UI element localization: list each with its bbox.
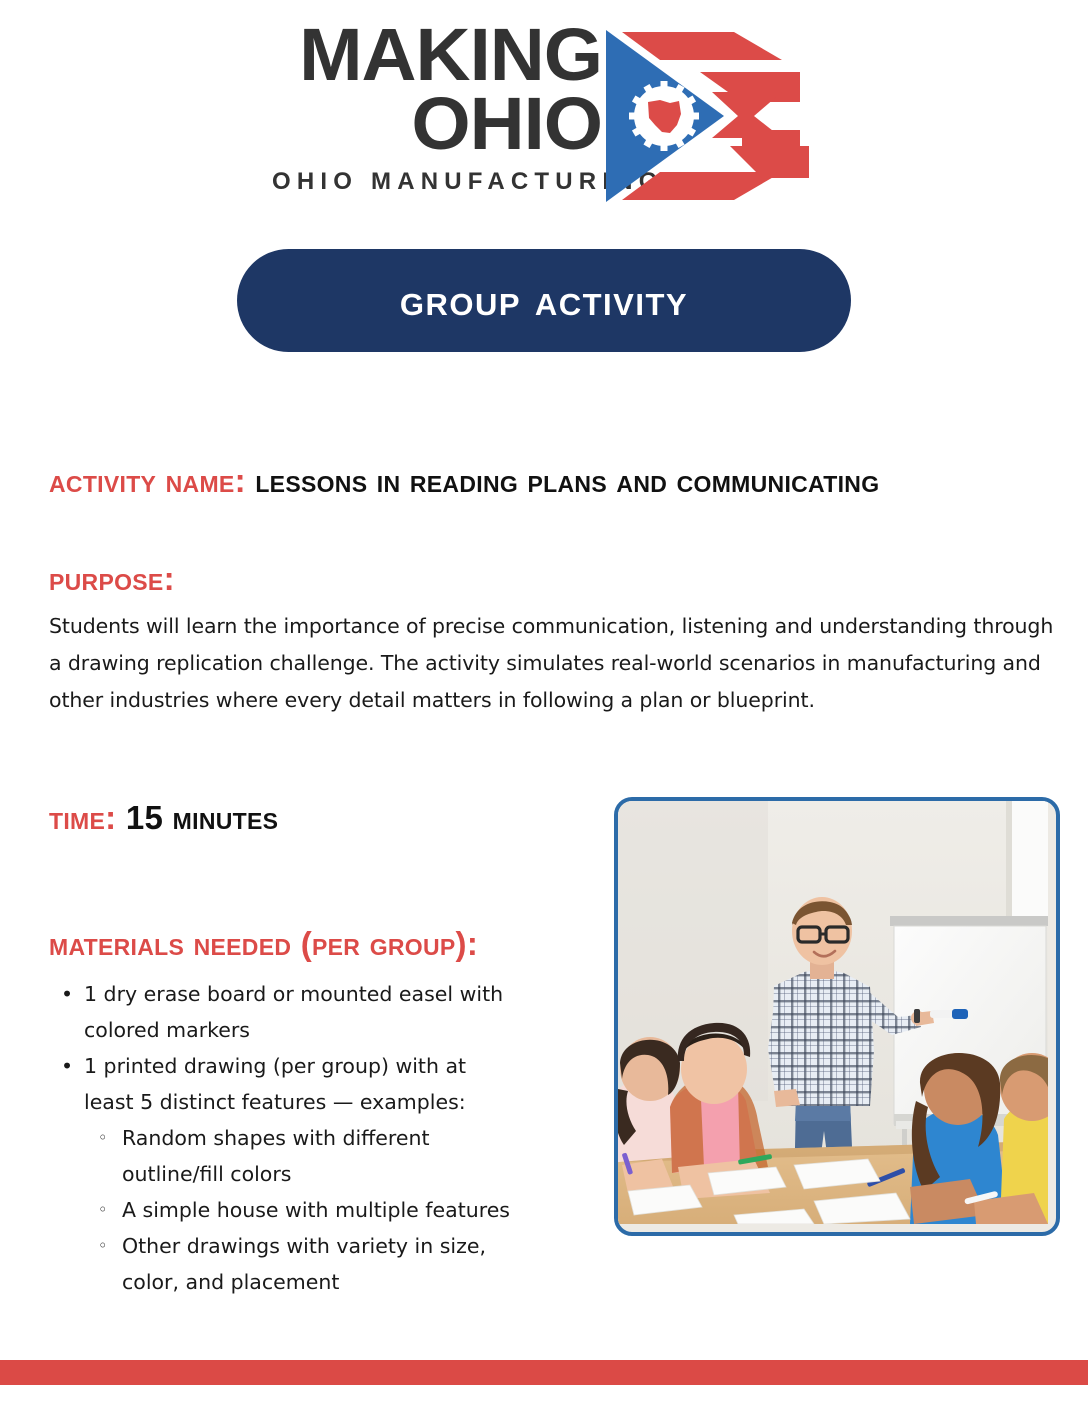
materials-item-text: 1 printed drawing (per group) with at le… [84,1054,466,1114]
logo-wordmark: MAKING OHIO OHIO MANUFACTURING [272,22,602,196]
bullet-icon: • [61,976,73,1012]
ohio-burgee-flag-icon [604,26,819,206]
materials-sub-item: ◦A simple house with multiple features [84,1192,519,1228]
materials-sub-item-text: Other drawings with variety in size, col… [122,1234,486,1294]
activity-name-value: lessons in reading plans and communicati… [255,462,879,499]
materials-list: •1 dry erase board or mounted easel with… [49,976,519,1300]
activity-photo-image [618,801,1056,1232]
materials-sub-item-text: Random shapes with different outline/fil… [122,1126,430,1186]
bottom-accent-bar [0,1360,1088,1385]
logo-line-making: MAKING [262,22,602,87]
logo-tagline: OHIO MANUFACTURING [272,168,602,196]
page-title-banner: Group activity [237,249,851,352]
purpose-heading: Purpose: [49,560,175,598]
materials-sub-item: ◦Other drawings with variety in size, co… [84,1228,519,1300]
activity-name-row: Activity Name: lessons in reading plans … [49,462,879,500]
materials-sub-item-text: A simple house with multiple features [122,1198,510,1222]
sub-bullet-icon: ◦ [98,1120,107,1156]
purpose-body-text: Students will learn the importance of pr… [49,608,1054,719]
time-row: Time: 15 minutes [49,799,278,837]
time-label: Time: [49,799,116,836]
page-title: Group activity [400,276,688,326]
materials-sub-item: ◦Random shapes with different outline/fi… [84,1120,519,1192]
sub-bullet-icon: ◦ [98,1228,107,1264]
brand-logo: MAKING OHIO OHIO MANUFACTURING [272,22,817,202]
materials-item: •1 dry erase board or mounted easel with… [49,976,519,1048]
materials-item: •1 printed drawing (per group) with at l… [49,1048,519,1300]
sub-bullet-icon: ◦ [98,1192,107,1228]
bullet-icon: • [61,1048,73,1084]
logo-line-ohio: OHIO [262,91,602,156]
time-value: 15 minutes [126,799,278,836]
activity-photo [614,797,1060,1236]
activity-name-label: Activity Name: [49,462,246,499]
materials-heading: Materials Needed (per group): [49,925,478,963]
materials-sub-list: ◦Random shapes with different outline/fi… [84,1120,519,1300]
materials-item-text: 1 dry erase board or mounted easel with … [84,982,503,1042]
